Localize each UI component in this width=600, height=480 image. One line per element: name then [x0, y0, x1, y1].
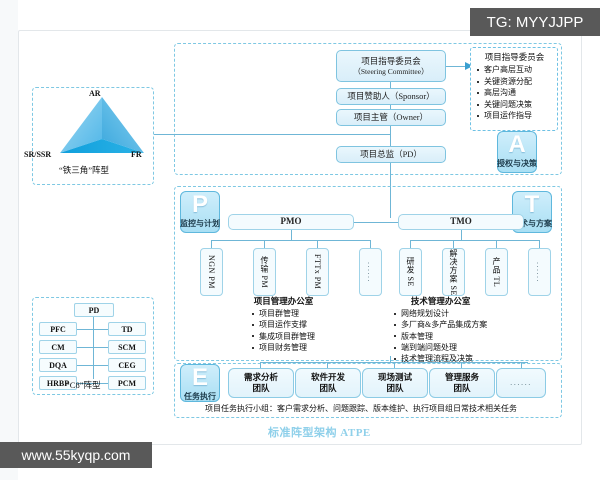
tmo-office-item-0: 网络规划设计: [394, 308, 487, 319]
c8-left-item-2: DQA: [39, 358, 77, 372]
badge-t-glyph: T: [525, 193, 540, 217]
triangle-apex-label: AR: [89, 89, 101, 98]
execution-team-0: 需求分析 团队: [228, 368, 294, 398]
governance-bullets-list: 客户高层互动 关键资源分配 高层沟通 关键问题决策 项目运作指导: [477, 64, 552, 122]
pmo-box: PMO: [228, 214, 354, 230]
tmo-child-0: 研发 SE: [399, 248, 422, 296]
pmo-child-2-label: FTTx PM: [313, 254, 322, 289]
iron-triangle-graphic: [52, 95, 152, 157]
diagram-title: 标准阵型架构 ATPE: [268, 424, 371, 440]
governance-bullet-1: 关键资源分配: [477, 76, 552, 88]
pmo-drop: [291, 230, 292, 240]
owner-box: 项目主管（Owner）: [336, 109, 446, 126]
pmo-office-item-2: 集成项目群管理: [252, 331, 315, 342]
left-margin: [0, 0, 18, 480]
execution-team-2: 现场测试 团队: [362, 368, 428, 398]
tmo-child-3-label: ......: [535, 262, 544, 283]
badge-a-authorization: A 授权与决策: [497, 131, 537, 173]
pmo-tick-1: [264, 240, 265, 248]
pmo-child-3-label: ......: [366, 262, 375, 283]
diagram-canvas: AR SR/SSR FR “铁三角”阵型 PD PFC CM DQA HRBP …: [0, 0, 600, 480]
governance-bullet-2: 高层沟通: [477, 87, 552, 99]
c8-left-item-0: PFC: [39, 322, 77, 336]
tmo-office-item-1: 多厂商&多产品集成方案: [394, 319, 487, 330]
tmo-child-1: 解决方案 SE: [442, 248, 465, 296]
gov-link-owner-director: [390, 126, 391, 146]
pmo-child-3: ......: [359, 248, 382, 296]
pmo-child-1: 传输 PM: [253, 248, 276, 296]
c8-matrix-caption: “C8”阵型: [66, 379, 100, 391]
pmo-office-header: 项目管理办公室: [252, 295, 315, 307]
pmo-tick-0: [211, 240, 212, 248]
tmo-office-header: 技术管理办公室: [394, 295, 487, 307]
c8-spine: [93, 317, 94, 379]
execution-team-0-line1: 需求分析: [244, 372, 278, 383]
c8-right-item-1: SCM: [108, 340, 146, 354]
tmo-child-2-label: 产品 TL: [491, 257, 502, 287]
badge-a-label: 授权与决策: [497, 158, 537, 169]
c8-rung-0: [77, 329, 108, 330]
pmo-office-item-3: 项目财务管理: [252, 342, 315, 353]
tmo-tick-0: [410, 240, 411, 248]
tmo-tick-3: [539, 240, 540, 248]
triangle-to-spine-link: [154, 134, 390, 135]
c8-left-item-1: CM: [39, 340, 77, 354]
badge-a-glyph: A: [508, 133, 525, 157]
execution-team-0-line2: 团队: [252, 383, 269, 394]
governance-bullet-3: 关键问题决策: [477, 99, 552, 111]
badge-e-glyph: E: [192, 366, 208, 390]
execution-team-3-line2: 团队: [453, 383, 470, 394]
execution-team-4: ......: [496, 368, 546, 398]
steering-committee-box: 项目指导委员会 （Steering Committee）: [336, 50, 446, 82]
execution-team-1: 软件开发 团队: [295, 368, 361, 398]
tmo-office-list: 网络规划设计 多厂商&多产品集成方案 版本管理 端到端问题处理 技术管理流程及决…: [394, 308, 487, 365]
execution-team-3: 管理服务 团队: [429, 368, 495, 398]
pmo-tick-2: [317, 240, 318, 248]
pmo-office-desc: 项目管理办公室 项目群管理 项目运作支撑 集成项目群管理 项目财务管理: [252, 295, 315, 353]
governance-bullet-0: 客户高层互动: [477, 64, 552, 76]
badge-p-label: 监控与计划: [180, 218, 220, 229]
tmo-child-1-label: 解决方案 SE: [448, 249, 459, 296]
pmo-bus: [211, 240, 371, 241]
c8-right-item-3: PCM: [108, 376, 146, 390]
badge-p-glyph: P: [192, 193, 208, 217]
badge-e-execution: E 任务执行: [180, 364, 220, 402]
pmo-office-list: 项目群管理 项目运作支撑 集成项目群管理 项目财务管理: [252, 308, 315, 353]
execution-team-2-line2: 团队: [386, 383, 403, 394]
execution-team-1-line1: 软件开发: [311, 372, 345, 383]
watermark-telegram: TG: MYYJJPP: [470, 8, 600, 36]
pmo-tick-3: [370, 240, 371, 248]
badge-e-label: 任务执行: [184, 391, 216, 402]
gov-link-steering-sponsor: [390, 82, 391, 88]
governance-bullet-4: 项目运作指导: [477, 110, 552, 122]
project-director-box: 项目总监（PD）: [336, 146, 446, 163]
pmo-child-0-label: NGN PM: [207, 255, 216, 289]
tmo-office-item-3: 端到端问题处理: [394, 342, 487, 353]
tmo-tick-1: [453, 240, 454, 248]
tmo-drop: [461, 230, 462, 240]
c8-right-item-2: CEG: [108, 358, 146, 372]
pmo-tmo-link: [354, 222, 398, 223]
execution-team-4-line1: ......: [510, 377, 532, 388]
governance-bullets-panel: 项目指导委员会 客户高层互动 关键资源分配 高层沟通 关键问题决策 项目运作指导: [470, 47, 558, 131]
steering-committee-title: 项目指导委员会: [361, 56, 421, 67]
triangle-svg: [52, 95, 152, 157]
tmo-box: TMO: [398, 214, 524, 230]
c8-node-pd: PD: [74, 303, 114, 317]
watermark-site: www.55kyqp.com: [0, 442, 152, 468]
c8-right-item-0: TD: [108, 322, 146, 336]
tmo-child-2: 产品 TL: [485, 248, 508, 296]
execution-team-1-line2: 团队: [319, 383, 336, 394]
tmo-tick-2: [496, 240, 497, 248]
iron-triangle-caption: “铁三角”阵型: [59, 164, 109, 176]
tmo-child-3: ......: [528, 248, 551, 296]
execution-note: 项目任务执行小组：客户需求分析、问题跟踪、版本维护、执行项目组日常技术相关任务: [205, 403, 517, 414]
tmo-office-item-2: 版本管理: [394, 331, 487, 342]
triangle-right-label: FR: [131, 150, 142, 159]
tmo-child-0-label: 研发 SE: [405, 257, 416, 287]
badge-p-monitoring: P 监控与计划: [180, 191, 220, 233]
execution-team-2-line1: 现场测试: [378, 372, 412, 383]
c8-rung-1: [77, 347, 108, 348]
tmo-bus: [410, 240, 540, 241]
execution-team-3-line1: 管理服务: [445, 372, 479, 383]
c8-rung-2: [77, 365, 108, 366]
pmo-office-item-1: 项目运作支撑: [252, 319, 315, 330]
triangle-left-label: SR/SSR: [24, 150, 51, 159]
steering-committee-subtitle: （Steering Committee）: [353, 67, 428, 76]
tmo-office-desc: 技术管理办公室 网络规划设计 多厂商&多产品集成方案 版本管理 端到端问题处理 …: [394, 295, 487, 365]
gov-link-sponsor-owner: [390, 105, 391, 109]
pmo-child-2: FTTx PM: [306, 248, 329, 296]
pmo-office-item-0: 项目群管理: [252, 308, 315, 319]
pmo-child-1-label: 传输 PM: [259, 256, 270, 288]
governance-bullets-header: 项目指导委员会: [477, 51, 552, 63]
pmo-child-0: NGN PM: [200, 248, 223, 296]
sponsor-box: 项目赞助人（Sponsor）: [336, 88, 446, 105]
